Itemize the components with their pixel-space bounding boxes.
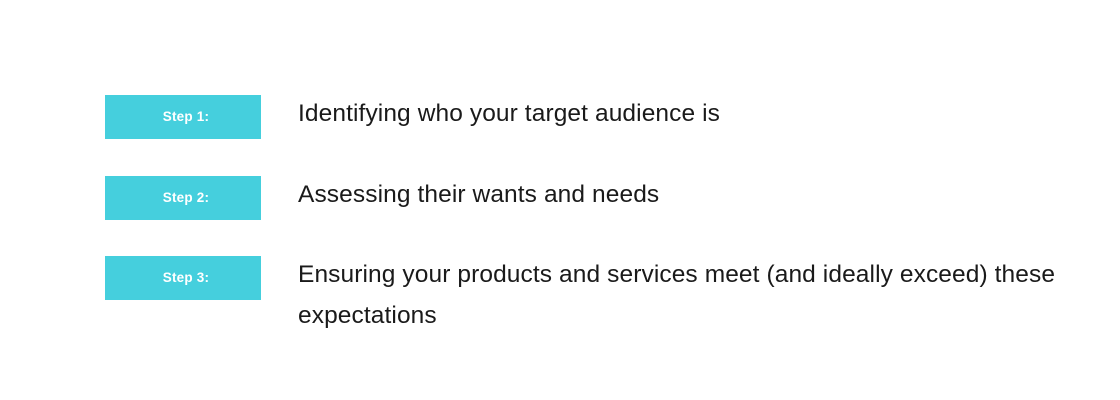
step-description-3: Ensuring your products and services meet… <box>298 254 1058 336</box>
step-description-1: Identifying who your target audience is <box>298 93 1058 134</box>
step-description-2: Assessing their wants and needs <box>298 174 1058 215</box>
step-row: Step 2: Assessing their wants and needs <box>105 176 1058 220</box>
step-badge-label: Step 2: <box>163 191 209 205</box>
step-badge-2: Step 2: <box>105 176 261 220</box>
step-badge-label: Step 3: <box>163 271 209 285</box>
step-row: Step 1: Identifying who your target audi… <box>105 95 1058 139</box>
step-badge-label: Step 1: <box>163 110 209 124</box>
step-row: Step 3: Ensuring your products and servi… <box>105 256 1058 336</box>
step-badge-1: Step 1: <box>105 95 261 139</box>
steps-figure: Step 1: Identifying who your target audi… <box>0 0 1120 400</box>
step-badge-3: Step 3: <box>105 256 261 300</box>
